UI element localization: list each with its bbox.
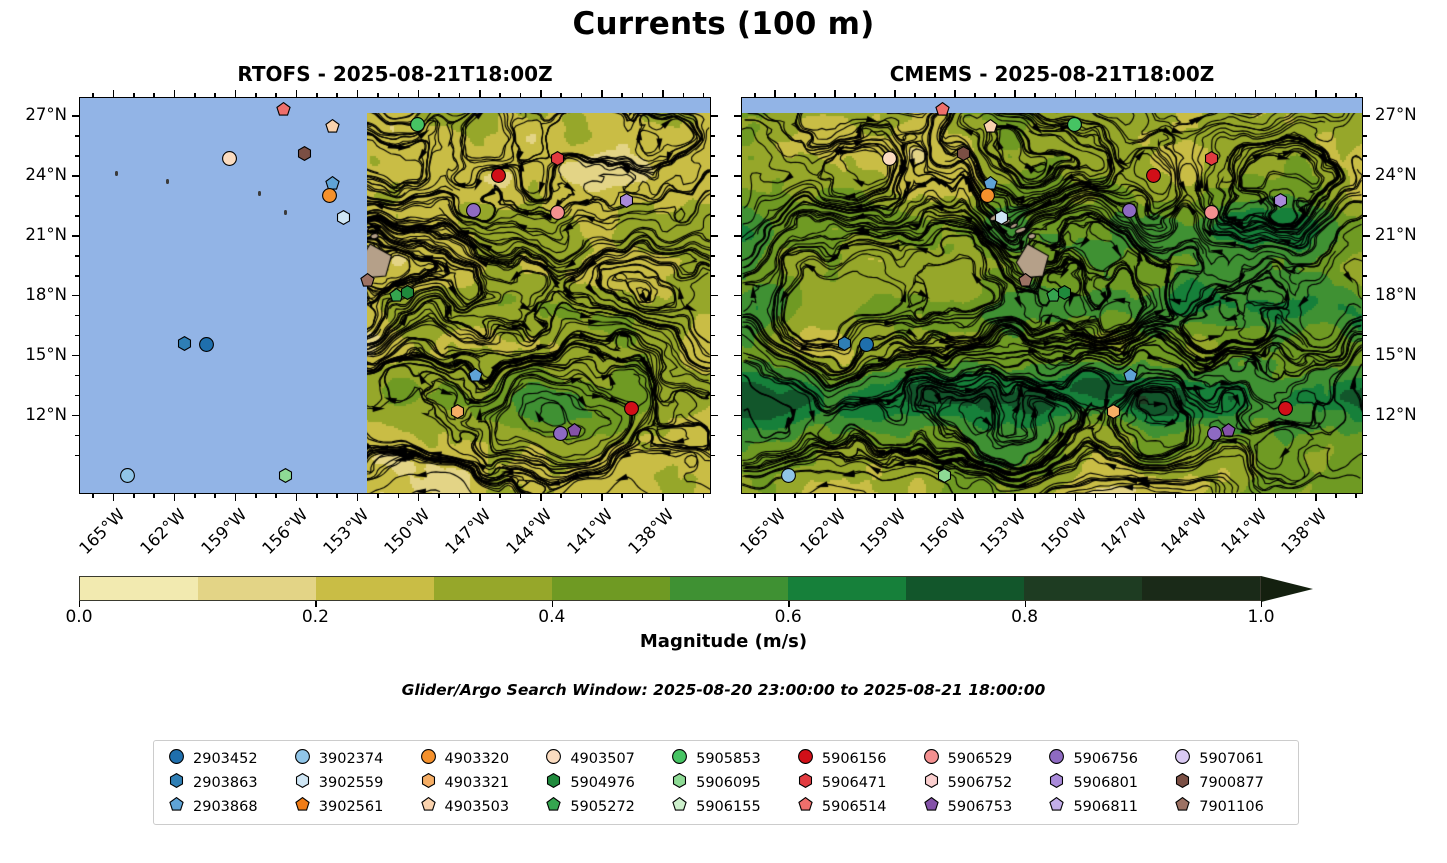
colorbar-segment [788, 577, 906, 600]
legend-item[interactable]: 5906155 [663, 797, 789, 816]
x-axis-minor-tick [814, 494, 816, 498]
x-axis-tick [418, 90, 420, 97]
float-marker[interactable] [1221, 423, 1236, 438]
x-axis-tick-label: 144°W [498, 505, 555, 562]
y-axis-minor-tick [737, 395, 741, 397]
x-axis-tick-label: 150°W [1033, 505, 1090, 562]
x-axis-minor-tick [1235, 494, 1237, 498]
legend-item[interactable]: 5906801 [1040, 773, 1166, 792]
x-axis-tick [662, 494, 664, 501]
legend-label: 2903863 [193, 775, 258, 791]
x-axis-tick-label: 165°W [732, 505, 789, 562]
float-marker[interactable] [360, 273, 375, 288]
x-axis-tick [1135, 494, 1137, 501]
legend-marker-icon [421, 749, 436, 768]
x-axis-tick [113, 90, 115, 97]
float-id-legend[interactable]: 2903452 2903863 2903868 3902374 3902559 … [153, 740, 1299, 825]
x-axis-minor-tick [642, 494, 644, 498]
legend-item[interactable]: 4903507 [537, 749, 663, 768]
legend-item[interactable]: 4903321 [412, 773, 538, 792]
map-panel-cmems[interactable] [741, 97, 1363, 494]
x-axis-tick [1255, 90, 1257, 97]
y-axis-minor-tick [1363, 315, 1367, 317]
legend-item[interactable]: 2903863 [160, 773, 286, 792]
y-axis-minor-tick [737, 255, 741, 257]
legend-marker-icon [546, 797, 561, 816]
x-axis-minor-tick [1335, 494, 1337, 498]
legend-label: 4903507 [570, 751, 635, 767]
x-axis-minor-tick [255, 93, 257, 97]
x-axis-minor-tick [1355, 93, 1357, 97]
island-speck [115, 171, 118, 176]
legend-label: 3902559 [319, 775, 384, 791]
float-marker[interactable] [550, 151, 565, 166]
float-marker[interactable] [1018, 273, 1033, 288]
y-axis-tick [711, 175, 718, 177]
float-marker[interactable] [1106, 404, 1121, 419]
x-axis-minor-tick [459, 494, 461, 498]
legend-item[interactable]: 3902559 [286, 773, 412, 792]
x-axis-minor-tick [133, 93, 135, 97]
float-marker[interactable] [619, 193, 634, 208]
legend-item[interactable]: 5906753 [915, 797, 1041, 816]
legend-label: 5907061 [1199, 751, 1264, 767]
legend-marker-icon [295, 749, 310, 768]
x-axis-tick [954, 494, 956, 501]
x-axis-minor-tick [92, 93, 94, 97]
colorbar-segment [1024, 577, 1142, 600]
x-axis-minor-tick [1155, 494, 1157, 498]
x-axis-minor-tick [520, 93, 522, 97]
x-axis-minor-tick [275, 93, 277, 97]
y-axis-minor-tick [737, 455, 741, 457]
y-axis-tick [1363, 295, 1370, 297]
float-marker[interactable] [222, 151, 237, 166]
x-axis-tick [357, 90, 359, 97]
x-axis-minor-tick [214, 93, 216, 97]
x-axis-minor-tick [499, 93, 501, 97]
x-axis-tick [1315, 494, 1317, 501]
float-marker[interactable] [553, 426, 568, 441]
legend-marker-icon [1175, 797, 1190, 816]
float-marker[interactable] [1204, 205, 1219, 220]
x-axis-minor-tick [934, 494, 936, 498]
y-axis-tick [734, 295, 741, 297]
legend-marker-icon [798, 797, 813, 816]
legend-marker-icon [1049, 749, 1064, 768]
float-marker[interactable] [491, 168, 506, 183]
x-axis-minor-tick [398, 494, 400, 498]
float-marker[interactable] [325, 119, 340, 134]
y-axis-tick-label: 24°N [0, 165, 67, 184]
y-axis-tick-label: 27°N [0, 105, 67, 124]
float-marker[interactable] [1204, 151, 1219, 166]
x-axis-minor-tick [1034, 93, 1036, 97]
legend-item[interactable]: 3902374 [286, 749, 412, 768]
x-axis-minor-tick [874, 93, 876, 97]
panel-title-cmems: CMEMS - 2025-08-21T18:00Z [741, 62, 1363, 86]
y-axis-minor-tick [737, 135, 741, 137]
colorbar-segment [906, 577, 1024, 600]
x-axis-tick-label: 150°W [376, 505, 433, 562]
x-axis-tick [662, 90, 664, 97]
legend-label: 4903321 [445, 775, 510, 791]
x-axis-minor-tick [1295, 494, 1297, 498]
legend-label: 2903452 [193, 751, 258, 767]
float-marker[interactable] [1146, 168, 1161, 183]
y-axis-minor-tick [75, 255, 79, 257]
legend-item[interactable]: 7901106 [1166, 797, 1292, 816]
x-axis-minor-tick [621, 494, 623, 498]
float-marker[interactable] [199, 337, 214, 352]
float-marker[interactable] [937, 468, 952, 483]
figure-title: Currents (100 m) [0, 6, 1447, 42]
x-axis-minor-tick [683, 494, 685, 498]
y-axis-tick-label: 18°N [0, 285, 67, 304]
legend-label: 5905853 [696, 751, 761, 767]
legend-item[interactable]: 3902561 [286, 797, 412, 816]
y-axis-minor-tick [711, 215, 715, 217]
float-marker[interactable] [322, 188, 337, 203]
x-axis-minor-tick [874, 494, 876, 498]
x-axis-minor-tick [1335, 93, 1337, 97]
legend-item[interactable]: 5904976 [537, 773, 663, 792]
x-axis-minor-tick [398, 93, 400, 97]
y-axis-minor-tick [75, 315, 79, 317]
colorbar-segment [80, 577, 198, 600]
y-axis-tick [1363, 175, 1370, 177]
x-axis-tick-label: 159°W [852, 505, 909, 562]
map-panel-rtofs[interactable] [79, 97, 711, 494]
x-axis-tick [834, 90, 836, 97]
x-axis-minor-tick [1275, 93, 1277, 97]
y-axis-minor-tick [737, 155, 741, 157]
colorbar-segment [552, 577, 670, 600]
y-axis-tick [734, 235, 741, 237]
x-axis-minor-tick [581, 494, 583, 498]
y-axis-tick [1363, 115, 1370, 117]
colorbar-segment [670, 577, 788, 600]
legend-label: 5906756 [1073, 751, 1138, 767]
y-axis-minor-tick [737, 195, 741, 197]
float-marker[interactable] [1057, 285, 1072, 300]
x-axis-tick-label: 141°W [559, 505, 616, 562]
y-axis-minor-tick [1363, 395, 1367, 397]
legend-marker-icon [924, 773, 939, 792]
legend-label: 5906753 [948, 799, 1013, 815]
y-axis-minor-tick [1363, 215, 1367, 217]
x-axis-minor-tick [316, 93, 318, 97]
legend-marker-icon [672, 773, 687, 792]
x-axis-minor-tick [621, 93, 623, 97]
float-marker[interactable] [624, 401, 639, 416]
float-marker[interactable] [468, 368, 483, 383]
x-axis-tick [894, 494, 896, 501]
x-axis-minor-tick [1155, 93, 1157, 97]
x-axis-minor-tick [377, 93, 379, 97]
legend-item[interactable]: 5906514 [789, 797, 915, 816]
float-marker[interactable] [781, 468, 796, 483]
legend-label: 7901106 [1199, 799, 1264, 815]
y-axis-tick [72, 115, 79, 117]
colorbar-tick-label: 0.6 [753, 607, 823, 627]
float-marker[interactable] [567, 423, 582, 438]
x-axis-minor-tick [1235, 93, 1237, 97]
y-axis-minor-tick [1363, 275, 1367, 277]
legend-item[interactable]: 5905853 [663, 749, 789, 768]
x-axis-tick [479, 494, 481, 501]
y-axis-minor-tick [75, 135, 79, 137]
x-axis-tick [540, 90, 542, 97]
colorbar-segment [434, 577, 552, 600]
y-axis-minor-tick [711, 155, 715, 157]
x-axis-tick-label: 162°W [792, 505, 849, 562]
search-window-caption: Glider/Argo Search Window: 2025-08-20 23… [0, 681, 1447, 699]
y-axis-tick [1363, 415, 1370, 417]
x-axis-tick [894, 90, 896, 97]
legend-item[interactable]: 4903503 [412, 797, 538, 816]
float-marker[interactable] [1122, 203, 1137, 218]
x-axis-minor-tick [1095, 494, 1097, 498]
legend-item[interactable]: 2903452 [160, 749, 286, 768]
float-marker[interactable] [1067, 117, 1082, 132]
y-axis-tick [734, 415, 741, 417]
legend-label: 5906801 [1073, 775, 1138, 791]
x-axis-tick [235, 494, 237, 501]
legend-label: 5904976 [570, 775, 635, 791]
colorbar-tick-label: 0.8 [990, 607, 1060, 627]
x-axis-tick-label: 165°W [71, 505, 128, 562]
float-marker[interactable] [466, 203, 481, 218]
y-axis-tick [72, 175, 79, 177]
legend-item[interactable]: 5906752 [915, 773, 1041, 792]
x-axis-minor-tick [336, 93, 338, 97]
float-marker[interactable] [882, 151, 897, 166]
legend-label: 2903868 [193, 799, 258, 815]
legend-marker-icon [798, 773, 813, 792]
x-axis-minor-tick [133, 494, 135, 498]
colorbar-segment [316, 577, 434, 600]
float-marker[interactable] [994, 210, 1009, 225]
float-marker[interactable] [120, 468, 135, 483]
x-axis-minor-tick [194, 494, 196, 498]
x-axis-minor-tick [854, 93, 856, 97]
float-marker[interactable] [1278, 401, 1293, 416]
colorbar-tick-label: 0.2 [280, 607, 350, 627]
x-axis-tick [357, 494, 359, 501]
x-axis-minor-tick [459, 93, 461, 97]
float-marker[interactable] [980, 188, 995, 203]
x-axis-minor-tick [994, 93, 996, 97]
x-axis-minor-tick [255, 494, 257, 498]
y-axis-minor-tick [737, 375, 741, 377]
legend-item[interactable]: 5906095 [663, 773, 789, 792]
y-axis-minor-tick [711, 375, 715, 377]
y-axis-minor-tick [711, 135, 715, 137]
legend-label: 5906155 [696, 799, 761, 815]
x-axis-tick-label: 144°W [1153, 505, 1210, 562]
legend-item[interactable]: 5906811 [1040, 797, 1166, 816]
y-axis-tick [711, 115, 718, 117]
x-axis-minor-tick [683, 93, 685, 97]
float-marker[interactable] [859, 337, 874, 352]
x-axis-minor-tick [703, 494, 705, 498]
legend-marker-icon [1049, 773, 1064, 792]
x-axis-tick [540, 494, 542, 501]
x-axis-tick [774, 494, 776, 501]
legend-label: 7900877 [1199, 775, 1264, 791]
colorbar-gradient [79, 576, 1261, 601]
x-axis-minor-tick [560, 93, 562, 97]
legend-marker-icon [421, 797, 436, 816]
x-axis-minor-tick [275, 494, 277, 498]
float-marker[interactable] [276, 102, 291, 117]
x-axis-tick [1255, 494, 1257, 501]
legend-item[interactable]: 4903320 [412, 749, 538, 768]
x-axis-minor-tick [438, 93, 440, 97]
float-marker[interactable] [297, 146, 312, 161]
x-axis-tick-label: 138°W [1273, 505, 1330, 562]
y-axis-tick-label: 27°N [1375, 105, 1447, 124]
x-axis-minor-tick [1095, 93, 1097, 97]
y-axis-tick [72, 295, 79, 297]
float-marker[interactable] [400, 285, 415, 300]
legend-label: 5906471 [822, 775, 887, 791]
x-axis-minor-tick [794, 93, 796, 97]
x-axis-tick [1135, 90, 1137, 97]
legend-item[interactable]: 5906156 [789, 749, 915, 768]
y-axis-minor-tick [75, 155, 79, 157]
float-marker[interactable] [935, 102, 950, 117]
legend-marker-icon [421, 773, 436, 792]
y-axis-tick [711, 415, 718, 417]
x-axis-minor-tick [153, 494, 155, 498]
y-axis-minor-tick [711, 275, 715, 277]
x-axis-minor-tick [794, 494, 796, 498]
x-axis-tick [1014, 90, 1016, 97]
legend-marker-icon [295, 797, 310, 816]
x-axis-minor-tick [336, 494, 338, 498]
colorbar-title: Magnitude (m/s) [0, 631, 1447, 652]
x-axis-minor-tick [153, 93, 155, 97]
float-marker[interactable] [410, 117, 425, 132]
y-axis-minor-tick [711, 335, 715, 337]
y-axis-minor-tick [711, 255, 715, 257]
legend-grid: 2903452 2903863 2903868 3902374 3902559 … [160, 749, 1292, 816]
x-axis-tick-label: 162°W [132, 505, 189, 562]
y-axis-minor-tick [75, 275, 79, 277]
float-marker[interactable] [1123, 368, 1138, 383]
legend-marker-icon [546, 749, 561, 768]
float-marker[interactable] [956, 146, 971, 161]
legend-label: 3902561 [319, 799, 384, 815]
legend-label: 5906156 [822, 751, 887, 767]
y-axis-tick-label: 12°N [0, 405, 67, 424]
colorbar-segment [1142, 577, 1260, 600]
legend-marker-icon [169, 797, 184, 816]
float-marker[interactable] [550, 205, 565, 220]
x-axis-tick [296, 494, 298, 501]
x-axis-tick [113, 494, 115, 501]
float-marker[interactable] [336, 210, 351, 225]
colorbar-extend-arrow [1261, 576, 1313, 602]
legend-item[interactable]: 7900877 [1166, 773, 1292, 792]
legend-label: 3902374 [319, 751, 384, 767]
y-axis-tick-label: 15°N [0, 345, 67, 364]
x-axis-minor-tick [316, 494, 318, 498]
legend-item[interactable]: 5906756 [1040, 749, 1166, 768]
legend-label: 5905272 [570, 799, 635, 815]
x-axis-tick-label: 153°W [973, 505, 1030, 562]
x-axis-minor-tick [1355, 494, 1357, 498]
y-axis-minor-tick [75, 335, 79, 337]
float-marker[interactable] [278, 468, 293, 483]
y-axis-tick-label: 21°N [0, 225, 67, 244]
x-axis-tick-label: 138°W [620, 505, 677, 562]
y-axis-minor-tick [75, 215, 79, 217]
y-axis-tick [72, 415, 79, 417]
x-axis-minor-tick [1295, 93, 1297, 97]
y-axis-minor-tick [1363, 435, 1367, 437]
legend-item[interactable]: 5906471 [789, 773, 915, 792]
x-axis-minor-tick [754, 494, 756, 498]
legend-marker-icon [672, 797, 687, 816]
y-axis-tick [711, 295, 718, 297]
y-axis-tick [734, 115, 741, 117]
y-axis-minor-tick [711, 195, 715, 197]
float-marker[interactable] [983, 119, 998, 134]
colorbar-tick-label: 1.0 [1226, 607, 1296, 627]
x-axis-minor-tick [974, 93, 976, 97]
colorbar-tick-label: 0.4 [517, 607, 587, 627]
x-axis-tick [1075, 494, 1077, 501]
x-axis-tick [1075, 90, 1077, 97]
x-axis-tick [1195, 494, 1197, 501]
x-axis-minor-tick [499, 494, 501, 498]
x-axis-minor-tick [92, 494, 94, 498]
legend-marker-icon [169, 749, 184, 768]
y-axis-minor-tick [1363, 155, 1367, 157]
colorbar[interactable] [79, 576, 1313, 601]
x-axis-tick [296, 90, 298, 97]
x-axis-minor-tick [438, 494, 440, 498]
x-axis-tick-label: 147°W [437, 505, 494, 562]
float-marker[interactable] [450, 404, 465, 419]
x-axis-tick-label: 153°W [315, 505, 372, 562]
x-axis-tick [954, 90, 956, 97]
y-axis-minor-tick [75, 375, 79, 377]
x-axis-minor-tick [703, 93, 705, 97]
legend-marker-icon [1175, 749, 1190, 768]
legend-marker-icon [924, 797, 939, 816]
float-marker[interactable] [177, 336, 192, 351]
legend-item[interactable]: 5905272 [537, 797, 663, 816]
x-axis-tick [601, 90, 603, 97]
float-marker[interactable] [837, 336, 852, 351]
y-axis-tick [711, 235, 718, 237]
legend-item[interactable]: 5906529 [915, 749, 1041, 768]
y-axis-minor-tick [737, 215, 741, 217]
float-marker[interactable] [1273, 193, 1288, 208]
x-axis-minor-tick [1115, 93, 1117, 97]
y-axis-minor-tick [1363, 195, 1367, 197]
legend-item[interactable]: 5907061 [1166, 749, 1292, 768]
legend-item[interactable]: 2903868 [160, 797, 286, 816]
y-axis-minor-tick [75, 455, 79, 457]
x-axis-tick [1315, 90, 1317, 97]
y-axis-tick-label: 21°N [1375, 225, 1447, 244]
x-axis-tick [418, 494, 420, 501]
